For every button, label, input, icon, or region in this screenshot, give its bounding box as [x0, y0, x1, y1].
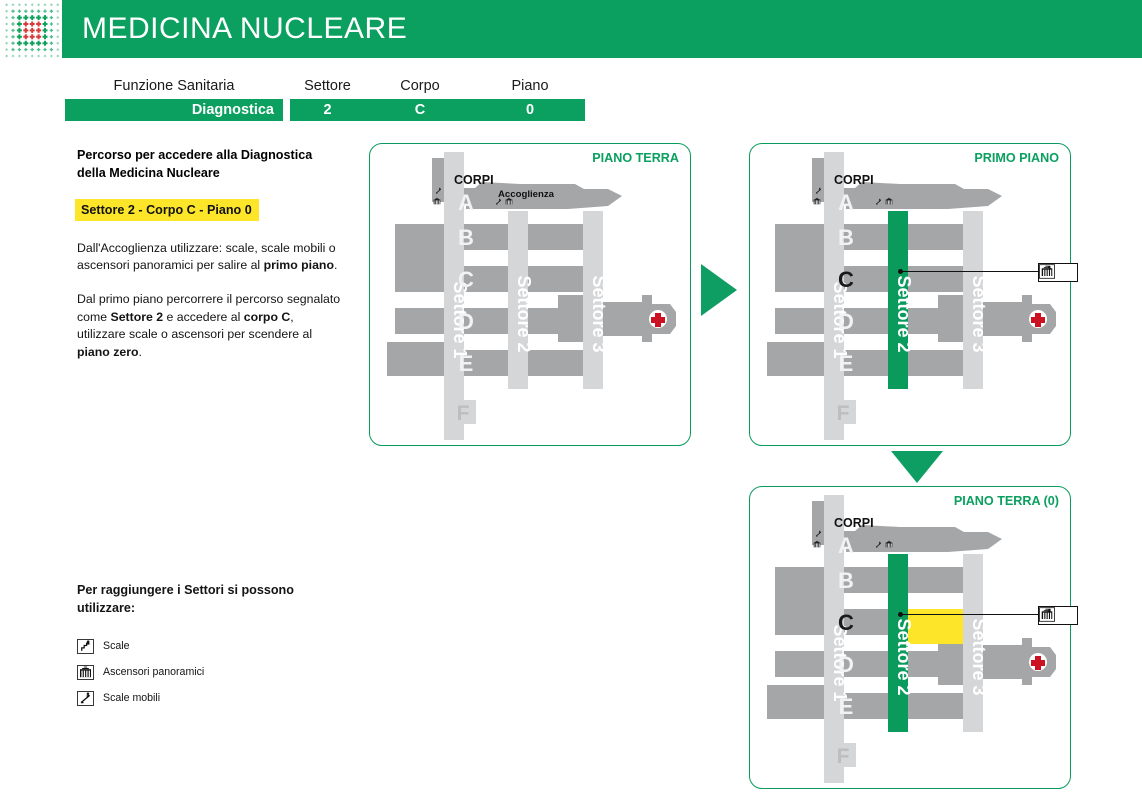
sector-band-label: Settore 2 — [894, 275, 914, 352]
sector-band-label: Settore 3 — [969, 275, 989, 352]
corpi-label: CORPI — [454, 173, 494, 187]
floor-map-piano-terra-zero[interactable]: PIANO TERRA (0) Settore 1Settore 2Settor… — [749, 486, 1071, 789]
body-label-D: D — [458, 309, 474, 334]
escalator-icon — [874, 198, 883, 206]
body-label-A: A — [838, 190, 854, 215]
table-gap — [283, 78, 290, 99]
body-label-A: A — [458, 190, 474, 215]
body-label-B: B — [838, 225, 854, 250]
body-label-C: C — [838, 610, 854, 635]
col-value-corpo: C — [365, 99, 475, 121]
legend-panel: Per raggiungere i Settori si possono uti… — [77, 581, 342, 706]
body-label-B: B — [838, 568, 854, 593]
cross-grid-logo-icon — [0, 0, 62, 58]
floor-plan-graphic: Settore 1Settore 2Settore 3ABCDEFCORPIAc… — [370, 144, 690, 445]
legend-item-label: Scale — [103, 640, 130, 652]
p2-text-d: . — [139, 345, 142, 359]
instructions-paragraph-2: Dal primo piano percorrere il percorso s… — [77, 291, 342, 361]
body-label-E: E — [459, 351, 474, 376]
panoramic-elevator-icon — [884, 197, 894, 206]
legend-title: Per raggiungere i Settori si possono uti… — [77, 581, 342, 618]
col-header-funzione: Funzione Sanitaria — [65, 78, 283, 99]
body-label-E: E — [839, 351, 854, 376]
floor-map-primo-piano[interactable]: PRIMO PIANO Settore 1Settore 2Settore 3A… — [749, 143, 1071, 446]
sector-band-label: Settore 3 — [969, 618, 989, 695]
p2-bold-a: Settore 2 — [111, 310, 164, 324]
table-value-row: Diagnostica 2 C 0 — [65, 99, 585, 121]
body-label-F: F — [837, 745, 850, 768]
instructions-paragraph-1: Dall'Accoglienza utilizzare: scale, scal… — [77, 240, 342, 275]
sector-band-label: Settore 3 — [589, 275, 609, 352]
legend-list: ScaleAscensori panoramiciScale mobili — [77, 639, 342, 706]
col-value-piano: 0 — [475, 99, 585, 121]
escalator-icon — [77, 691, 94, 706]
panoramic-elevator-icon — [884, 540, 894, 549]
col-value-settore: 2 — [290, 99, 365, 121]
body-label-F: F — [837, 402, 850, 425]
legend-item: Scale — [77, 639, 342, 654]
p2-bold-b: corpo C — [244, 310, 290, 324]
info-table: Funzione Sanitaria Settore Corpo Piano D… — [65, 78, 585, 121]
panoramic-elevator-icon — [504, 197, 514, 206]
floor-plan-graphic: Settore 1Settore 2Settore 3ABCDEFCORPI — [750, 144, 1070, 445]
callout-leader-line — [900, 614, 1040, 615]
panoramic-elevator-icon — [432, 197, 442, 206]
legend-item-label: Scale mobili — [103, 692, 160, 704]
body-label-C: C — [458, 267, 474, 292]
status-badge: Settore 2 - Corpo C - Piano 0 — [75, 199, 259, 221]
body-label-F: F — [457, 402, 470, 425]
col-header-piano: Piano — [475, 78, 585, 99]
body-label-D: D — [838, 652, 854, 677]
legend-item: Ascensori panoramici — [77, 665, 342, 680]
legend-item-label: Ascensori panoramici — [103, 666, 204, 678]
floor-plan-graphic: Settore 1Settore 2Settore 3ABCDEFCORPI — [750, 487, 1070, 788]
body-label-A: A — [838, 533, 854, 558]
escalator-icon — [874, 541, 883, 549]
body-label-B: B — [458, 225, 474, 250]
sector-band-3[interactable]: Settore 3 — [963, 554, 989, 732]
panoramic-elevator-icon — [77, 665, 94, 680]
escalator-icon — [494, 198, 503, 206]
sector-band-3[interactable]: Settore 3 — [583, 211, 609, 389]
callout-leader-line — [900, 271, 1040, 272]
col-value-funzione: Diagnostica — [65, 99, 283, 121]
callout-box[interactable] — [1038, 606, 1078, 625]
legend-item: Scale mobili — [77, 691, 342, 706]
sector-band-label: Settore 2 — [894, 618, 914, 695]
panoramic-elevator-icon — [1060, 265, 1076, 280]
corpi-label: CORPI — [834, 173, 874, 187]
escalator-icon — [814, 187, 823, 195]
table-gap-2 — [283, 99, 290, 121]
callout-anchor-dot — [898, 612, 903, 617]
panoramic-elevator-icon — [812, 197, 822, 206]
body-label-D: D — [838, 309, 854, 334]
instructions-intro: Percorso per accedere alla Diagnostica d… — [77, 146, 342, 183]
panoramic-elevator-icon — [812, 540, 822, 549]
p2-bold-c: piano zero — [77, 345, 139, 359]
arrow-down-icon — [890, 450, 944, 486]
escalator-icon — [434, 187, 443, 195]
p1-bold-a: primo piano — [264, 258, 334, 272]
escalator-icon — [814, 530, 823, 538]
callout-anchor-dot — [898, 269, 903, 274]
function-sector-table: Funzione Sanitaria Settore Corpo Piano D… — [65, 78, 585, 121]
body-label-E: E — [839, 694, 854, 719]
p1-text-b: . — [334, 258, 337, 272]
col-header-settore: Settore — [290, 78, 365, 99]
instructions-panel: Percorso per accedere alla Diagnostica d… — [77, 146, 342, 361]
sector-band-3[interactable]: Settore 3 — [963, 211, 989, 389]
callout-box[interactable] — [1038, 263, 1078, 282]
sector-band-label: Settore 2 — [514, 275, 534, 352]
stairs-icon — [77, 639, 94, 654]
logo — [0, 0, 62, 58]
arrow-right-icon — [700, 263, 742, 317]
page-title: MEDICINA NUCLEARE — [62, 12, 407, 46]
table-header-row: Funzione Sanitaria Settore Corpo Piano — [65, 78, 585, 99]
col-header-corpo: Corpo — [365, 78, 475, 99]
corpi-label: CORPI — [834, 516, 874, 530]
body-label-C: C — [838, 267, 854, 292]
header-bar: MEDICINA NUCLEARE — [62, 0, 1142, 58]
panoramic-elevator-icon — [1060, 608, 1076, 623]
floor-map-piano-terra[interactable]: PIANO TERRA Settore 1Settore 2Settore 3A… — [369, 143, 691, 446]
p2-text-b: e accedere al — [163, 310, 244, 324]
